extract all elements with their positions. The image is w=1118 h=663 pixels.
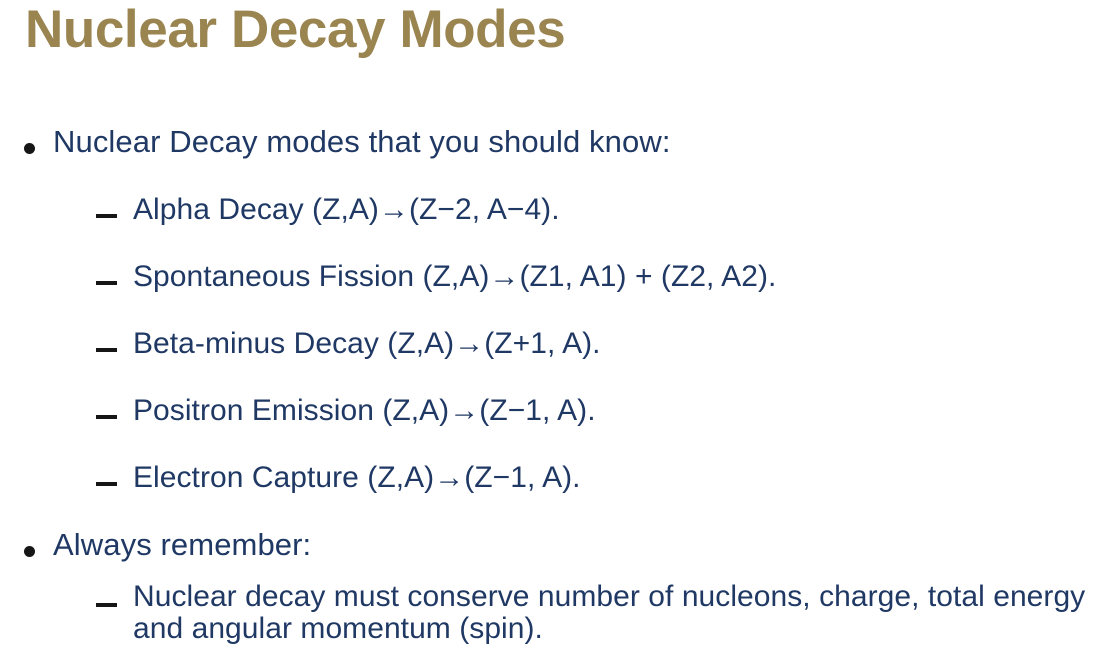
list-item: Alpha Decay (Z,A)→(Z−2, A−4). bbox=[0, 190, 1118, 257]
disc-bullet-icon bbox=[24, 546, 35, 557]
list-item: Always remember: bbox=[0, 525, 1118, 581]
list-item-label: Spontaneous Fission (Z,A)→(Z1, A1) + (Z2… bbox=[133, 257, 1118, 296]
list-item: Electron Capture (Z,A)→(Z−1, A). bbox=[0, 458, 1118, 525]
dash-bullet-icon bbox=[96, 281, 117, 285]
list-item-label: Electron Capture (Z,A)→(Z−1, A). bbox=[133, 458, 1118, 497]
list-item: Positron Emission (Z,A)→(Z−1, A). bbox=[0, 391, 1118, 458]
list-item-label: Nuclear Decay modes that you should know… bbox=[53, 122, 1118, 163]
list-item-label: Always remember: bbox=[53, 525, 1118, 566]
list-item-label: Beta-minus Decay (Z,A)→(Z+1, A). bbox=[133, 324, 1118, 363]
list-item: Spontaneous Fission (Z,A)→(Z1, A1) + (Z2… bbox=[0, 257, 1118, 324]
list-item-label: Nuclear decay must conserve number of nu… bbox=[133, 581, 1118, 646]
page-title: Nuclear Decay Modes bbox=[25, 2, 565, 58]
bullet-list: Nuclear Decay modes that you should know… bbox=[0, 122, 1118, 659]
list-item: Beta-minus Decay (Z,A)→(Z+1, A). bbox=[0, 324, 1118, 391]
dash-bullet-icon bbox=[96, 482, 117, 486]
slide-canvas: Nuclear Decay Modes Nuclear Decay modes … bbox=[0, 0, 1118, 663]
list-item: Nuclear decay must conserve number of nu… bbox=[0, 581, 1118, 659]
disc-bullet-icon bbox=[24, 143, 35, 154]
list-item: Nuclear Decay modes that you should know… bbox=[0, 122, 1118, 178]
dash-bullet-icon bbox=[96, 348, 117, 352]
list-item-label: Alpha Decay (Z,A)→(Z−2, A−4). bbox=[133, 190, 1118, 229]
list-item-label: Positron Emission (Z,A)→(Z−1, A). bbox=[133, 391, 1118, 430]
dash-bullet-icon bbox=[96, 415, 117, 419]
dash-bullet-icon bbox=[96, 603, 117, 607]
dash-bullet-icon bbox=[96, 214, 117, 218]
